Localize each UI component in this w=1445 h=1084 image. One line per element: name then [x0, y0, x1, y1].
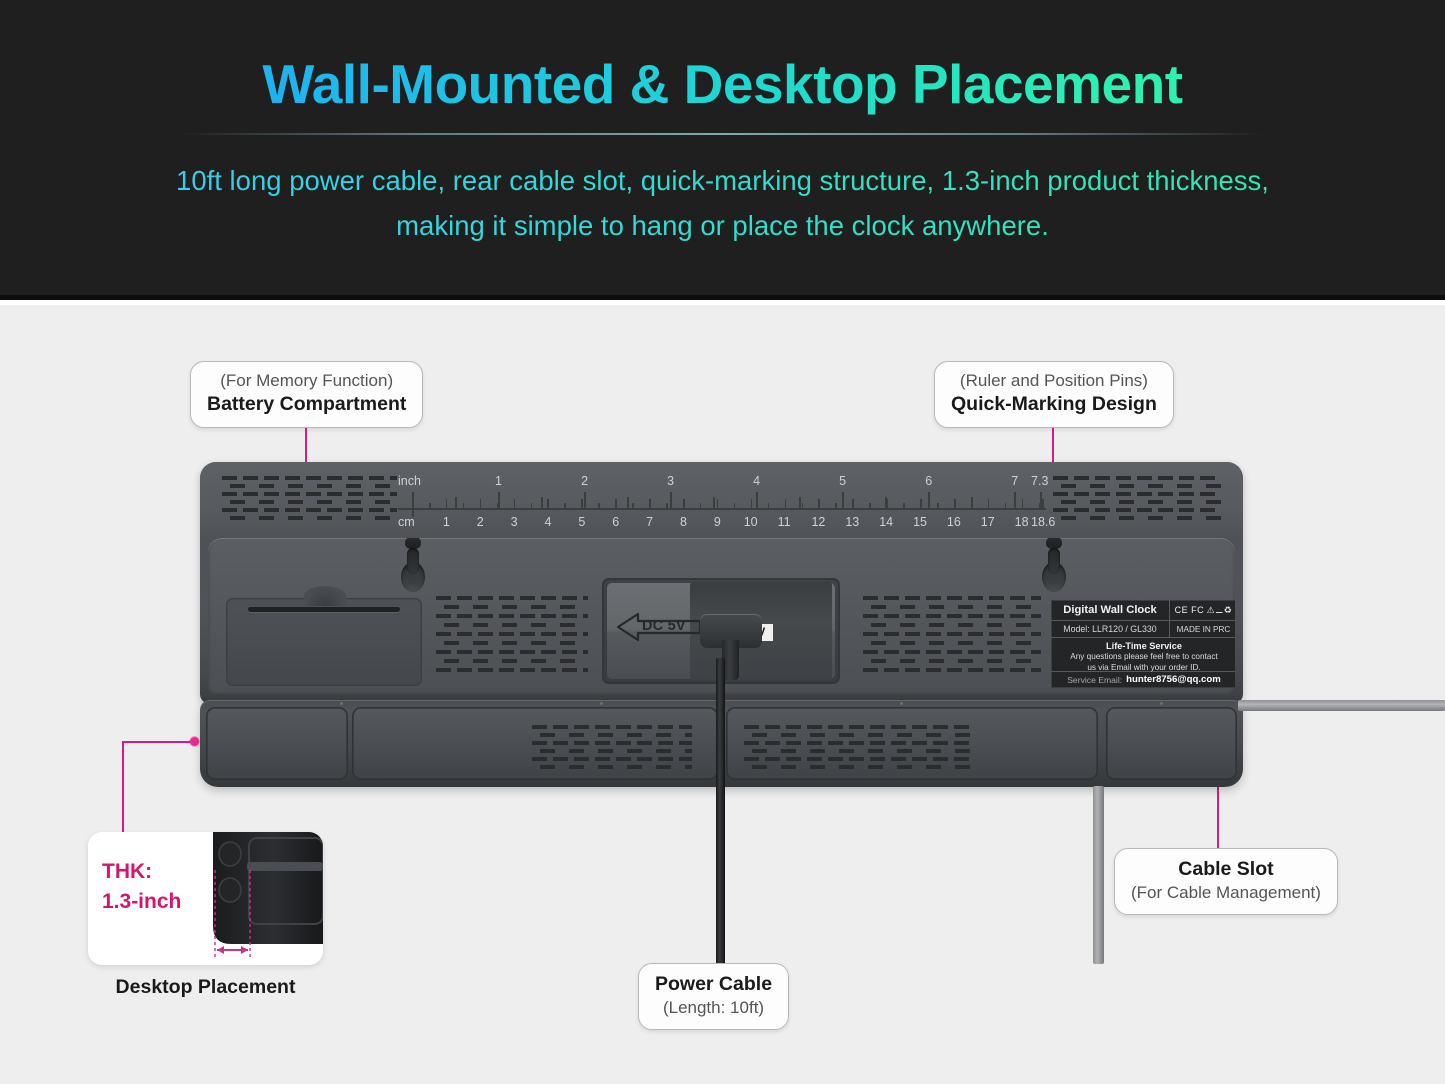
thickness-label-line-1: THK: [102, 857, 181, 887]
ruler-tick-inch [1014, 492, 1016, 508]
callout-cable-slot[interactable]: Cable Slot (For Cable Management) [1114, 848, 1338, 915]
ruler-label-inch: 5 [839, 474, 846, 488]
keyhole-mount-right [1035, 546, 1073, 598]
title-divider [182, 133, 1264, 135]
battery-compartment[interactable] [226, 598, 422, 686]
battery-cover-nub [304, 586, 346, 606]
ruler-tick-cm-minor [632, 503, 634, 508]
vent-stand-right [744, 725, 974, 767]
infographic-page: Wall-Mounted & Desktop Placement 10ft lo… [0, 0, 1445, 1084]
ruler-tick-cm-minor [835, 503, 837, 508]
ruler-unit-inch: inch [398, 474, 421, 488]
battery-cover-grip [248, 607, 400, 612]
ruler-tick-zero [412, 492, 414, 517]
ruler-label-inch: 3 [667, 474, 674, 488]
ruler-tick-cm [954, 499, 956, 508]
side-profile-illustration [197, 832, 323, 965]
vent-top-right [1053, 476, 1221, 522]
callout-power-cable[interactable]: Power Cable (Length: 10ft) [638, 963, 789, 1030]
ruler-tick-inch-minor [885, 497, 887, 508]
ruler-label-cm: 2 [477, 515, 484, 529]
ruler-tick-inch [756, 492, 758, 508]
screw-dot-1 [340, 702, 343, 705]
screw-dot-3 [900, 702, 903, 705]
callout-powercable-sub: (Length: 10ft) [655, 997, 772, 1019]
page-title: Wall-Mounted & Desktop Placement [0, 52, 1445, 116]
ruler-tick-inch [1040, 492, 1042, 508]
label-service-heading: Life-Time Service [1051, 640, 1235, 652]
ruler-tick-cm-minor [869, 503, 871, 508]
stand-segment-mid-right [726, 707, 1098, 780]
vent-mid-left [436, 596, 588, 674]
ruler-tick-cm-minor [429, 503, 431, 508]
ruler-tick-cm [717, 499, 719, 508]
label-model-key: Model: [1063, 624, 1089, 634]
ruler-tick-cm [649, 499, 651, 508]
ruler-scale: inch cm 12345678910111213141516171818.61… [398, 470, 1046, 532]
ruler-label-cm: 12 [811, 515, 825, 529]
ruler-label-cm: 6 [612, 515, 619, 529]
ruler-label-cm: 18.6 [1031, 515, 1055, 529]
label-email-value: hunter8756@qq.com [1126, 674, 1221, 685]
label-model: Model: LLR120 / GL330 [1051, 621, 1169, 637]
ruler-tick-cm-minor [937, 503, 939, 508]
cable-slot-segment[interactable] [1106, 707, 1237, 780]
ruler-tick-inch-minor [971, 497, 973, 508]
ruler-unit-cm: cm [398, 515, 415, 529]
callout-battery-compartment[interactable]: (For Memory Function) Battery Compartmen… [190, 361, 423, 428]
leader-dot-thk [190, 737, 199, 746]
ruler-tick-inch [670, 492, 672, 508]
ruler-label-cm: 9 [714, 515, 721, 529]
subtitle-line-2: making it simple to hang or place the cl… [396, 210, 1049, 241]
keyhole-right-slot [1048, 548, 1060, 574]
ruler-tick-inch-minor [713, 497, 715, 508]
dc-arrow-marking: DC 5V [616, 610, 702, 644]
ruler-tick-cm-minor [531, 503, 533, 508]
ruler-label-cm: 3 [511, 515, 518, 529]
ruler-tick-cm [446, 499, 448, 508]
callout-quickmark-main: Quick-Marking Design [951, 392, 1157, 417]
ruler-tick-cm [988, 499, 990, 508]
ruler-tick-cm [514, 499, 516, 508]
ruler-tick-cm [480, 499, 482, 508]
ruler-tick-cm [581, 499, 583, 508]
ruler-label-cm: 18 [1015, 515, 1029, 529]
certification-icons: CE FC ⚠⚊♻ [1169, 600, 1235, 620]
vent-mid-right [863, 596, 1041, 674]
label-model-value: LLR120 / GL330 [1092, 624, 1157, 634]
ruler-tick-inch [842, 492, 844, 508]
ruler-label-inch: 2 [581, 474, 588, 488]
ruler-tick-cm [615, 499, 617, 508]
ruler-label-inch: 7 [1011, 474, 1018, 488]
ruler-label-cm: 5 [578, 515, 585, 529]
callout-battery-main: Battery Compartment [207, 392, 406, 417]
dc-arrow-label: DC 5V [642, 618, 686, 634]
leader-line-thk-vertical [122, 741, 124, 836]
screw-dot-2 [600, 702, 603, 705]
ruler-tick-cm-minor [463, 503, 465, 508]
label-email-key: Service Email: [1067, 675, 1122, 685]
product-spec-label: Digital Wall Clock CE FC ⚠⚊♻ Model: LLR1… [1051, 600, 1235, 688]
ruler-tick-cm-minor [768, 503, 770, 508]
power-cable-wire [716, 658, 725, 980]
ruler-label-cm: 13 [845, 515, 859, 529]
managed-cable-vertical [1093, 786, 1104, 964]
ruler-label-inch: 1 [495, 474, 502, 488]
ruler-tick-cm-minor [564, 503, 566, 508]
ruler-label-cm: 8 [680, 515, 687, 529]
thickness-inset-card: THK: 1.3-inch [88, 832, 323, 965]
ruler-tick-inch-minor [799, 497, 801, 508]
vent-stand-left [532, 725, 692, 767]
ruler-label-inch: 4 [753, 474, 760, 488]
ruler-tick-cm-minor [734, 503, 736, 508]
ruler-tick-cm-minor [598, 503, 600, 508]
callout-quick-marking[interactable]: (Ruler and Position Pins) Quick-Marking … [934, 361, 1174, 428]
ruler-tick-cm-minor [666, 503, 668, 508]
ruler-label-cm: 4 [544, 515, 551, 529]
header-banner: Wall-Mounted & Desktop Placement 10ft lo… [0, 0, 1445, 300]
ruler-label-cm: 17 [981, 515, 995, 529]
ruler-tick-cm-minor [802, 503, 804, 508]
ruler-tick-inch-minor [455, 497, 457, 508]
label-row-model: Model: LLR120 / GL330 MADE IN PRC [1051, 621, 1235, 638]
managed-cable-horizontal [1238, 700, 1445, 711]
ce-fc-mark-icon: CE FC [1175, 605, 1205, 615]
label-row-email: Service Email: hunter8756@qq.com [1051, 672, 1235, 687]
keyhole-mount-left [394, 546, 432, 598]
callout-powercable-main: Power Cable [655, 972, 772, 997]
ruler-label-cm: 1 [443, 515, 450, 529]
ruler-label-cm: 11 [778, 515, 791, 529]
ruler-tick-cm [920, 499, 922, 508]
ruler-label-cm: 10 [744, 515, 758, 529]
thickness-label-line-2: 1.3-inch [102, 887, 181, 917]
ruler-tick-cm [818, 499, 820, 508]
stand-segment-mid-left [352, 707, 718, 780]
subtitle-line-1: 10ft long power cable, rear cable slot, … [176, 165, 1269, 196]
thickness-value: THK: 1.3-inch [102, 857, 181, 917]
label-service-line-1: Any questions please feel free to contac… [1051, 652, 1235, 663]
ruler-tick-inch [498, 492, 500, 508]
ruler-tick-cm-minor [1005, 503, 1007, 508]
ruler-tick-cm [1042, 499, 1044, 508]
ruler-label-cm: 16 [947, 515, 961, 529]
leader-line-thk-horizontal [122, 741, 197, 743]
callout-cableslot-main: Cable Slot [1131, 857, 1321, 882]
ruler-tick-cm [547, 499, 549, 508]
ruler-axis [398, 508, 1046, 510]
callout-battery-sub: (For Memory Function) [207, 370, 406, 392]
ruler-label-cm: 7 [646, 515, 653, 529]
screw-dot-4 [1160, 702, 1163, 705]
keyhole-left-slot [407, 548, 419, 574]
ruler-tick-inch [928, 492, 930, 508]
ruler-tick-cm [785, 499, 787, 508]
ruler-tick-cm [852, 499, 854, 508]
ruler-label-cm: 14 [879, 515, 893, 529]
ruler-tick-cm [751, 499, 753, 508]
ruler-tick-inch [584, 492, 586, 508]
ruler-label-inch: 6 [925, 474, 932, 488]
ruler-label-cm: 15 [913, 515, 927, 529]
ruler-tick-cm-minor [903, 503, 905, 508]
ruler-tick-inch-minor [627, 497, 629, 508]
thickness-card-caption: Desktop Placement [88, 976, 323, 999]
clock-side-profile-photo [197, 832, 323, 965]
ruler-tick-cm [683, 499, 685, 508]
callout-cableslot-sub: (For Cable Management) [1131, 882, 1321, 904]
ruler-label-inch: 7.3 [1031, 474, 1048, 488]
ruler-tick-inch-minor [541, 497, 543, 508]
label-product-title: Digital Wall Clock [1051, 600, 1169, 620]
ruler-tick-cm [1022, 499, 1024, 508]
vent-top-left [222, 476, 397, 522]
label-row-title: Digital Wall Clock CE FC ⚠⚊♻ [1051, 600, 1235, 621]
label-row-service: Life-Time Service Any questions please f… [1051, 638, 1235, 672]
weee-recycle-icons-icon: ⚠⚊♻ [1207, 605, 1233, 616]
ruler-tick-cm-minor [700, 503, 702, 508]
header-subtitle: 10ft long power cable, rear cable slot, … [0, 158, 1445, 248]
callout-quickmark-sub: (Ruler and Position Pins) [951, 370, 1157, 392]
label-origin: MADE IN PRC [1169, 621, 1235, 637]
stand-segment-left [206, 707, 348, 780]
